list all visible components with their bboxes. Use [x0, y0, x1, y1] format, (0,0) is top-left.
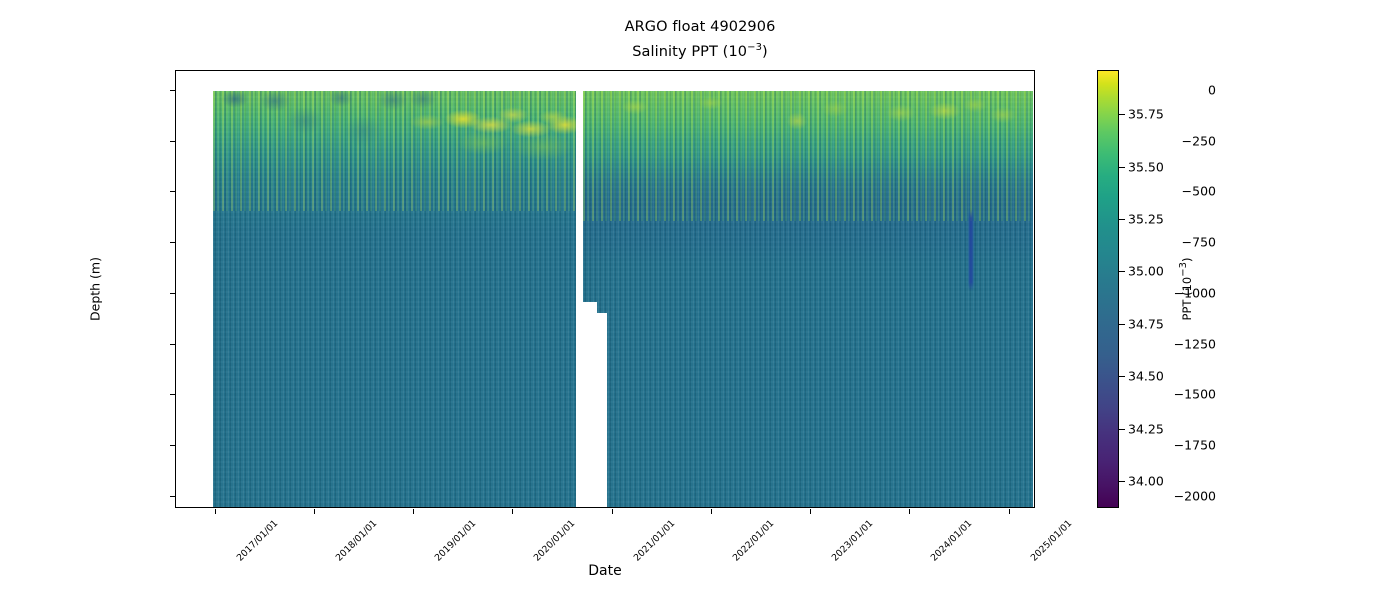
figure-title-line2-suffix: ) — [762, 44, 768, 60]
colorbar-label-exponent: −3 — [1178, 262, 1189, 277]
colorbar-gradient — [1098, 71, 1118, 507]
colorbar-tick-label-3400: 34.00 — [1128, 473, 1164, 488]
x-tick-label-2024: 2024/01/01 — [929, 518, 975, 564]
x-tick-label-2018: 2018/01/01 — [334, 518, 380, 564]
colorbar-label-prefix: PPT (10 — [1180, 277, 1194, 321]
x-tick-label-2022: 2022/01/01 — [731, 518, 777, 564]
y-tick-label-1750: −1750 — [1174, 437, 1216, 452]
figure-title-line2: Salinity PPT (10−3) — [0, 42, 1400, 60]
y-tick-label-2000: −2000 — [1174, 488, 1216, 503]
colorbar-tick-label-3450: 34.50 — [1128, 369, 1164, 384]
colorbar-tick-label-3425: 34.25 — [1128, 421, 1164, 436]
x-tick-label-2025: 2025/01/01 — [1028, 518, 1074, 564]
data-gap-band — [576, 71, 583, 507]
colorbar-tick-label-3500: 35.00 — [1128, 264, 1164, 279]
y-tick-label-500: −500 — [1182, 184, 1216, 199]
colorbar-label: PPT (10−3) — [1178, 258, 1194, 321]
colorbar-label-suffix: ) — [1180, 258, 1194, 263]
y-tick-label-250: −250 — [1182, 133, 1216, 148]
figure-title-line2-exponent: −3 — [747, 42, 762, 53]
low-salinity-anomaly — [583, 91, 1033, 508]
colorbar-tick-label-3575: 35.75 — [1128, 107, 1164, 122]
colorbar-tick-label-3550: 35.50 — [1128, 159, 1164, 174]
x-tick-label-2020: 2020/01/01 — [532, 518, 578, 564]
heatmap-panel-pre-gap — [213, 91, 576, 508]
y-axis-label: Depth (m) — [88, 257, 103, 321]
plot-axes[interactable] — [175, 70, 1035, 508]
y-tick-label-0: 0 — [1208, 83, 1216, 98]
x-axis-label: Date — [588, 563, 621, 579]
x-tick-label-2021: 2021/01/01 — [632, 518, 678, 564]
x-tick-label-2019: 2019/01/01 — [433, 518, 479, 564]
colorbar-tick-label-3475: 34.75 — [1128, 316, 1164, 331]
figure-title-line1: ARGO float 4902906 — [0, 19, 1400, 35]
x-tick-label-2017: 2017/01/01 — [235, 518, 281, 564]
figure-title-line2-prefix: Salinity PPT (10 — [632, 44, 747, 60]
colorbar[interactable] — [1097, 70, 1119, 508]
y-tick-label-750: −750 — [1182, 235, 1216, 250]
y-tick-label-1500: −1500 — [1174, 387, 1216, 402]
x-tick-label-2023: 2023/01/01 — [830, 518, 876, 564]
heatmap-panel-post-gap — [583, 91, 1033, 508]
y-tick-label-1250: −1250 — [1174, 336, 1216, 351]
figure-canvas: ARGO float 4902906 Salinity PPT (10−3) — [0, 0, 1400, 600]
colorbar-tick-label-3525: 35.25 — [1128, 211, 1164, 226]
